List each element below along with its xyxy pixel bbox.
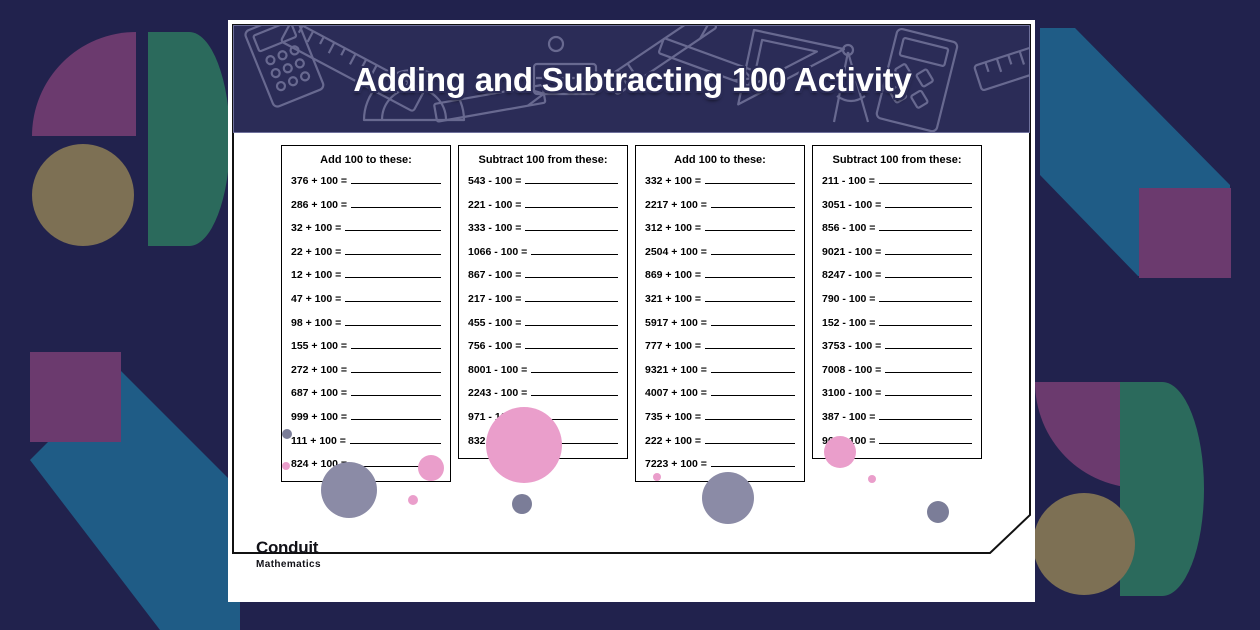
- circle-bottom-right-shape: [1033, 493, 1135, 595]
- logo-brand-name: Conduit: [256, 539, 321, 557]
- conduit-logo: Conduit Mathematics: [256, 539, 321, 570]
- confetti-dot: [702, 472, 754, 524]
- square-top-right-shape: [1139, 188, 1231, 278]
- confetti-dot: [653, 473, 661, 481]
- confetti-decoration: [228, 20, 1035, 602]
- confetti-dot: [408, 495, 418, 505]
- confetti-dot: [868, 475, 876, 483]
- confetti-dot: [321, 462, 377, 518]
- quarter-circle-top-left-shape: [32, 32, 136, 136]
- worksheet-page: Adding and Subtracting 100 Activity Add …: [228, 20, 1035, 602]
- screenshot-root: Adding and Subtracting 100 Activity Add …: [0, 0, 1260, 630]
- confetti-dot: [824, 436, 856, 468]
- square-bottom-left-shape: [30, 352, 121, 442]
- confetti-dot: [512, 494, 532, 514]
- confetti-dot: [282, 429, 292, 439]
- confetti-dot: [927, 501, 949, 523]
- logo-subject-name: Mathematics: [256, 559, 321, 570]
- confetti-dot: [282, 462, 290, 470]
- half-circle-bottom-right-shape: [1120, 382, 1204, 596]
- confetti-dot: [418, 455, 444, 481]
- confetti-dot: [486, 407, 562, 483]
- circle-top-left-shape: [32, 144, 134, 246]
- half-circle-top-left-shape: [148, 32, 230, 246]
